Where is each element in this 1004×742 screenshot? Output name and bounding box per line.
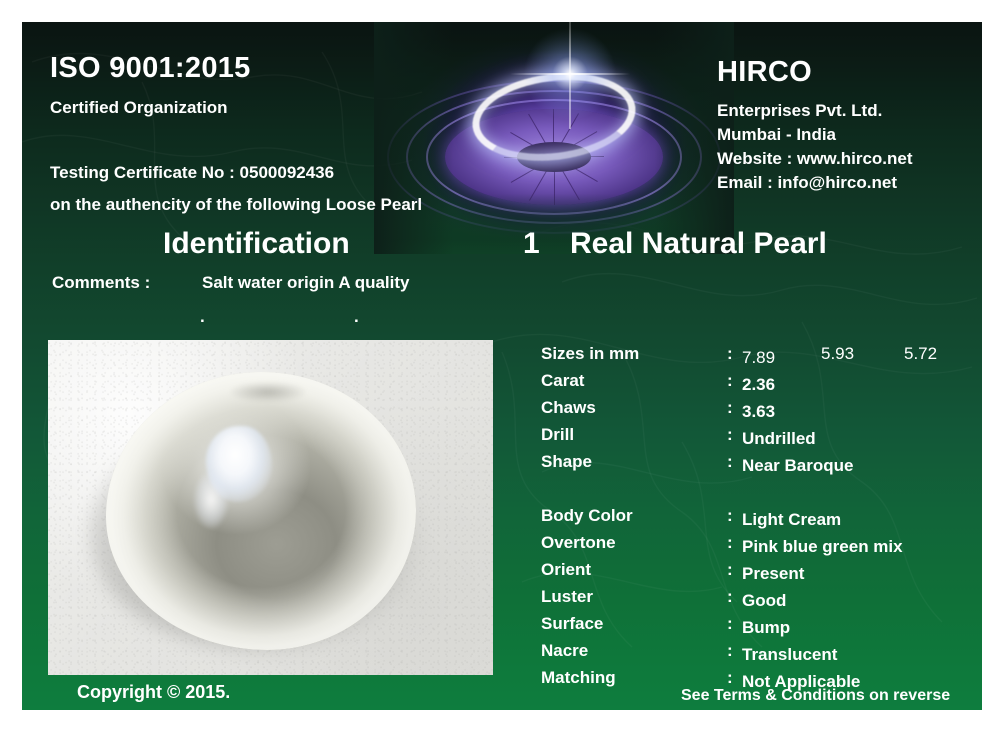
spec-colon: : [727,533,733,553]
spec-label: Body Color [541,506,633,526]
pearl-specular-highlight [206,426,272,502]
spec-label: Chaws [541,398,596,418]
iso-title: ISO 9001:2015 [50,52,251,85]
spec-value: 7.89 [742,344,775,371]
comments-label: Comments : [52,273,150,293]
spec-value: Light Cream [742,506,841,533]
spec-label: Overtone [541,533,616,553]
company-legal-name: Enterprises Pvt. Ltd. [717,101,882,121]
emblem-edge-fade [374,22,734,254]
spec-label: Drill [541,425,574,445]
spec-row: Drill:Undrilled [541,425,981,452]
spec-value: Present [742,560,804,587]
spec-label: Orient [541,560,591,580]
spec-colon: : [727,668,733,688]
spec-value: Pink blue green mix [742,533,903,560]
terms-conditions-note: See Terms & Conditions on reverse [681,687,950,705]
spec-colon: : [727,371,733,391]
spec-colon: : [727,641,733,661]
identification-item-number: 1 [523,227,540,261]
spec-row: Body Color:Light Cream [541,506,981,533]
spec-colon: : [727,398,733,418]
pearl-surface-bump [230,382,306,402]
spec-colon: : [727,560,733,580]
authenticity-statement: on the authencity of the following Loose… [50,195,422,215]
spec-value: 2.36 [742,371,775,398]
identification-heading: Identification [163,227,350,261]
certificate-card: ISO 9001:2015 Certified Organization Tes… [22,22,982,710]
spec-value: Translucent [742,641,837,668]
spec-extra-value: 5.93 [821,344,854,364]
pearl-photograph [48,340,493,675]
spec-row: Orient:Present [541,560,981,587]
identification-item-name: Real Natural Pearl [570,227,827,261]
spec-label: Surface [541,614,603,634]
iso-subtitle: Certified Organization [50,98,228,118]
spec-extra-value: 5.72 [904,344,937,364]
certificate-page: ISO 9001:2015 Certified Organization Tes… [0,0,1004,742]
spec-row: Surface:Bump [541,614,981,641]
testing-certificate-number: Testing Certificate No : 0500092436 [50,163,334,183]
company-email[interactable]: Email : info@hirco.net [717,173,897,193]
mystical-emblem-graphic [374,22,734,254]
company-website[interactable]: Website : www.hirco.net [717,149,913,169]
spec-value: Undrilled [742,425,816,452]
spec-value: Bump [742,614,790,641]
comments-dot-right: . [354,307,359,327]
spec-colon: : [727,425,733,445]
spec-label: Carat [541,371,584,391]
comments-dot-left: . [200,307,205,327]
spec-row: Nacre:Translucent [541,641,981,668]
company-location: Mumbai - India [717,125,836,145]
spec-colon: : [727,506,733,526]
spec-colon: : [727,614,733,634]
spec-value: Near Baroque [742,452,853,479]
spec-row: Luster:Good [541,587,981,614]
spec-colon: : [727,452,733,472]
spec-row: Sizes in mm:7.895.935.72 [541,344,981,371]
spec-colon: : [727,587,733,607]
spec-value: Good [742,587,786,614]
copyright-notice: Copyright © 2015. [77,682,230,703]
spec-label: Luster [541,587,593,607]
spec-colon: : [727,344,733,364]
spec-row: Chaws:3.63 [541,398,981,425]
spec-row: Carat:2.36 [541,371,981,398]
spec-label: Sizes in mm [541,344,639,364]
spec-row: Shape:Near Baroque [541,452,981,506]
spec-label: Nacre [541,641,588,661]
comments-value: Salt water origin A quality [202,273,410,293]
specification-table: Sizes in mm:7.895.935.72Carat:2.36Chaws:… [541,344,981,695]
spec-label: Matching [541,668,616,688]
spec-value: 3.63 [742,398,775,425]
company-name: HIRCO [717,56,812,89]
spec-row: Overtone:Pink blue green mix [541,533,981,560]
pearl-rim-light [106,372,416,650]
spec-label: Shape [541,452,592,472]
